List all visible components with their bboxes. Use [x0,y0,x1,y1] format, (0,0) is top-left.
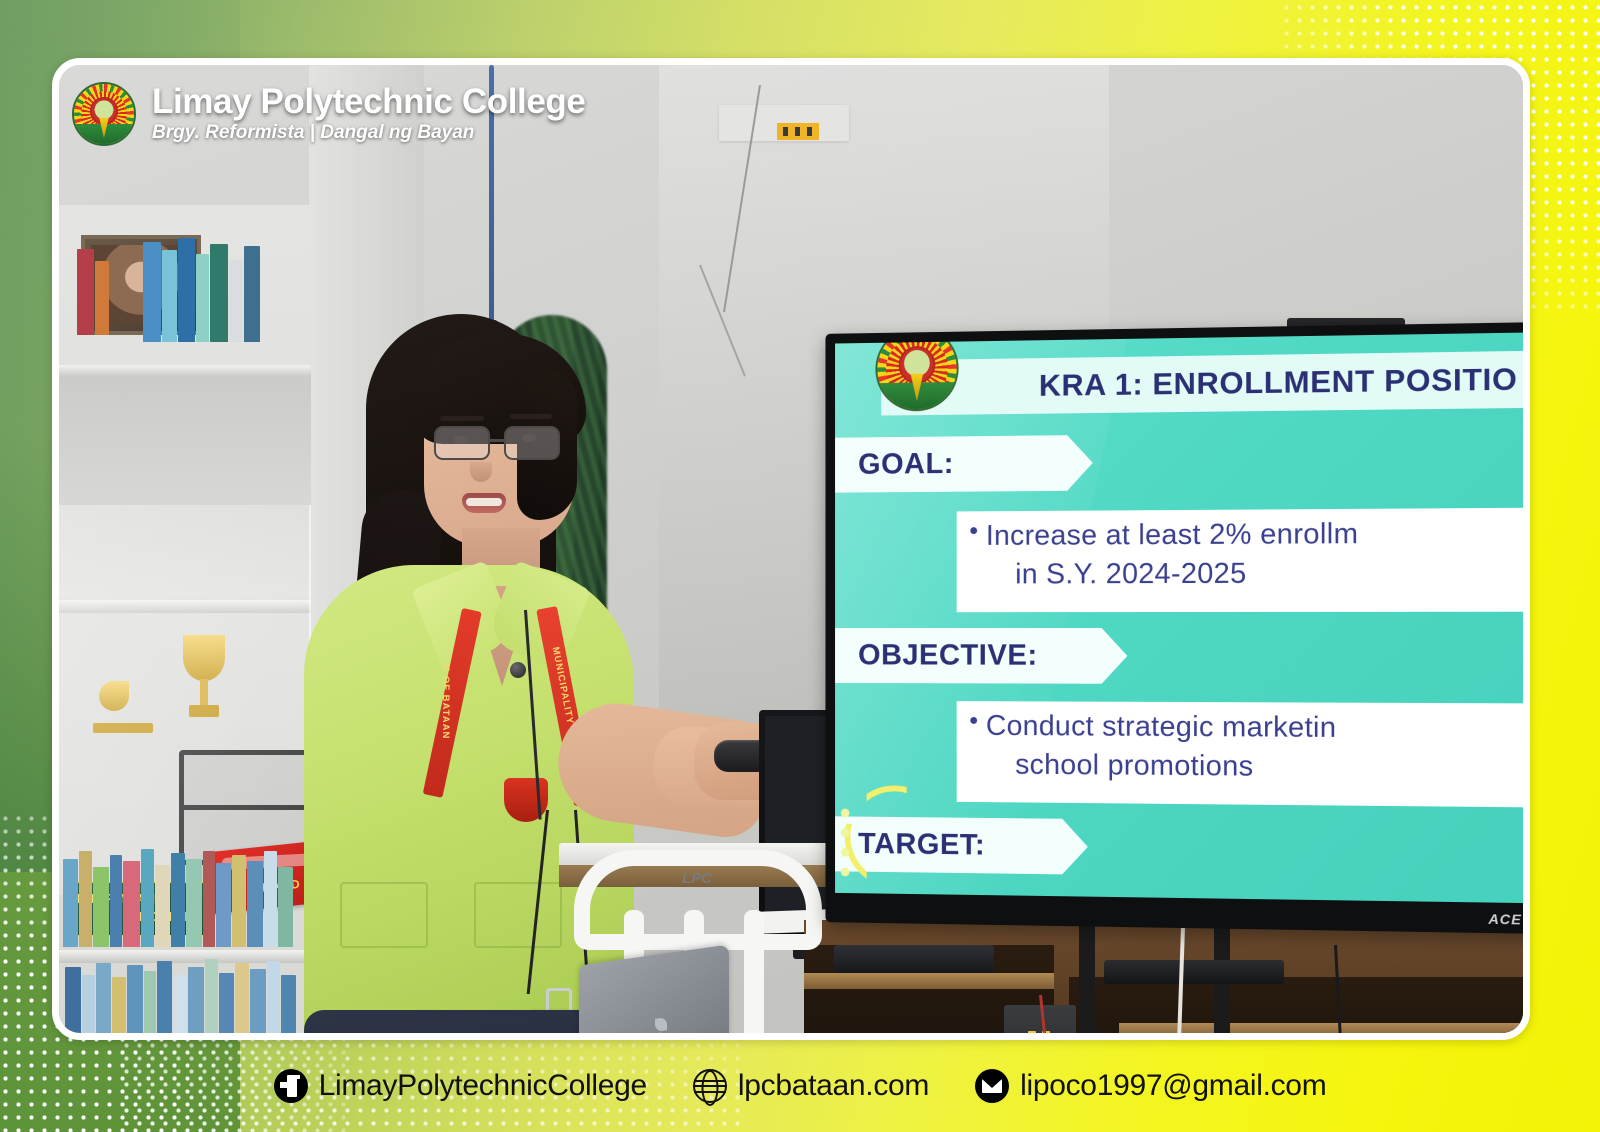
eyebrow-left [440,416,484,421]
slide-college-seal [875,332,958,412]
tv-stand-post-left [1079,920,1095,1033]
lanyard-text-left: E OF BATAAN [440,665,451,740]
objective-line-1: Conduct strategic marketin [986,710,1337,744]
globe-icon [693,1069,727,1103]
goal-line-2: in S.Y. 2024-2025 [986,553,1523,594]
mouth [462,493,506,513]
photo-card: HARD COPY FILIPINIANA SECTION [52,58,1530,1040]
email-icon [975,1069,1009,1103]
website-url: lpcbataan.com [738,1069,929,1103]
brand-header: Limay Polytechnic College Brgy. Reformis… [72,82,585,146]
blouse-pocket-right [474,882,562,948]
contact-footer: LimayPolytechnicCollege lpcbataan.com li… [0,1040,1600,1132]
slide-tag-goal: GOAL: [835,435,1093,493]
keyboard-right [1104,960,1284,984]
clip-microphone [510,662,526,678]
footer-facebook[interactable]: LimayPolytechnicCollege [274,1069,647,1103]
slide-bullet-objective: Conduct strategic marketin school promot… [957,701,1523,809]
event-photo: HARD COPY FILIPINIANA SECTION [59,65,1523,1033]
facebook-handle: LimayPolytechnicCollege [319,1069,647,1103]
footer-email[interactable]: lipoco1997@gmail.com [975,1069,1326,1103]
lanyard-knot [504,778,548,822]
slide-bullet-goal: Increase at least 2% enrollm in S.Y. 202… [957,507,1523,612]
slide-tag-target: TARGET: [835,816,1088,874]
email-address: lipoco1997@gmail.com [1020,1069,1326,1103]
chair-marking: LPC [682,870,712,887]
page-tagline: Brgy. Reformista | Dangal ng Bayan [152,122,585,144]
page-title: Limay Polytechnic College [152,84,585,120]
slide-tag-objective: OBJECTIVE: [835,628,1127,684]
presentation-slide: KRA 1: ENROLLMENT POSITIO GOAL: Increase… [835,332,1523,903]
keyboard-left [834,945,994,973]
slide-title: KRA 1: ENROLLMENT POSITIO [881,348,1523,415]
tv-brand-label: ACE [1488,911,1522,928]
presentation-display: KRA 1: ENROLLMENT POSITIO GOAL: Increase… [825,322,1523,934]
goal-line-1: Increase at least 2% enrollm [986,518,1358,552]
cabinet-shelf-left [804,973,1054,989]
objective-line-2: school promotions [986,746,1523,791]
eyeglasses [434,426,566,460]
tv-screen: KRA 1: ENROLLMENT POSITIO GOAL: Increase… [835,332,1523,903]
wall-outlet-icon [777,123,819,140]
slide-dot-decoration [841,809,856,880]
facebook-icon [274,1069,308,1103]
blouse-pocket-left [340,882,428,948]
college-seal-logo [72,82,136,146]
eyebrow-right [510,414,552,419]
footer-website[interactable]: lpcbataan.com [693,1069,929,1103]
